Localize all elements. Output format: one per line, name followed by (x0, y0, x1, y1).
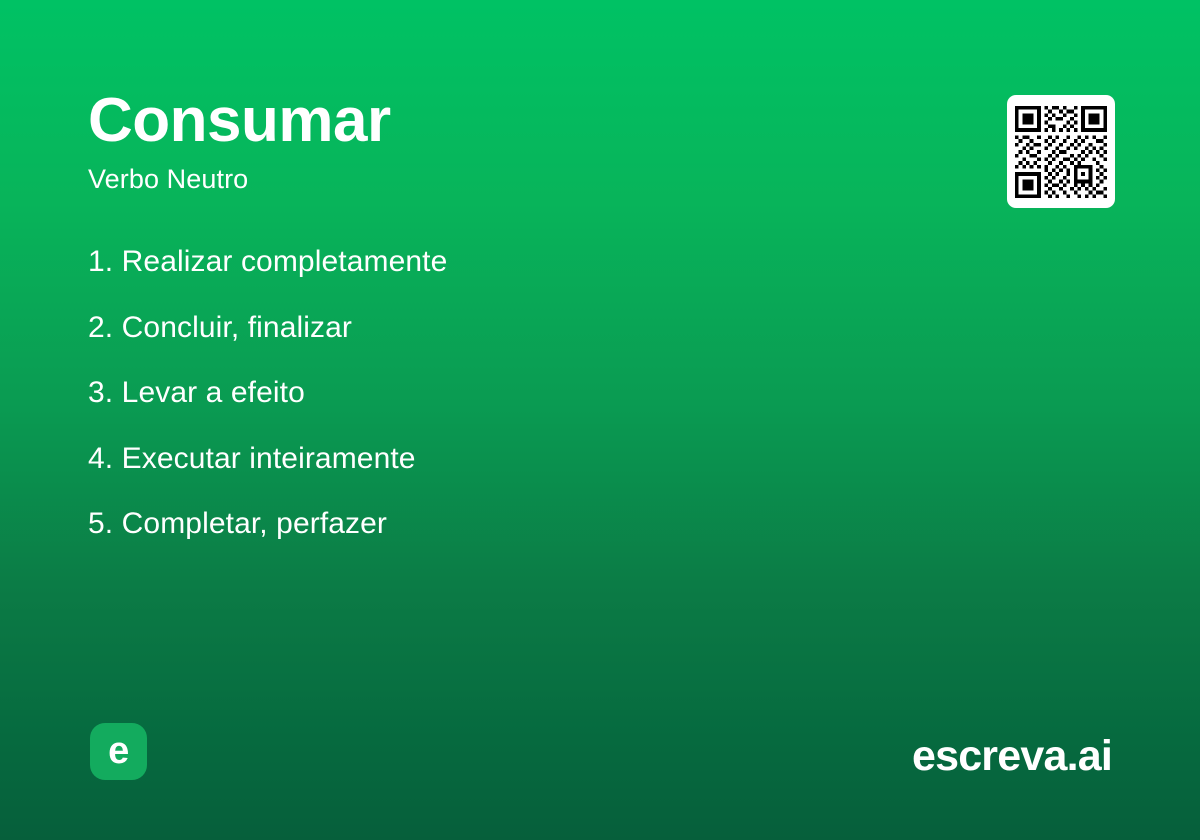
definition-index: 3. (88, 376, 113, 409)
escreva-logo-mark[interactable]: e (90, 723, 147, 780)
header: Consumar Verbo Neutro (88, 88, 948, 195)
definition-item: 1. Realizar completamente (88, 244, 988, 281)
definition-item: 4. Executar inteiramente (88, 441, 988, 478)
word-class-label: Verbo Neutro (88, 163, 948, 195)
definition-text: Completar, perfazer (122, 507, 387, 540)
page-title: Consumar (88, 88, 948, 153)
qr-code-icon (1015, 106, 1107, 198)
definition-text: Levar a efeito (122, 376, 305, 409)
definition-index: 4. (88, 442, 113, 475)
definition-item: 3. Levar a efeito (88, 375, 988, 412)
definition-index: 2. (88, 311, 113, 344)
logo-letter: e (108, 732, 129, 770)
word-definition-card: Consumar Verbo Neutro (0, 0, 1200, 840)
definition-item: 2. Concluir, finalizar (88, 310, 988, 347)
definition-text: Concluir, finalizar (122, 311, 352, 344)
definition-index: 5. (88, 507, 113, 540)
definition-text: Realizar completamente (122, 245, 448, 278)
definitions-list: 1. Realizar completamente2. Concluir, fi… (88, 244, 988, 543)
definition-index: 1. (88, 245, 113, 278)
qr-code-card[interactable] (1007, 95, 1115, 208)
brand-wordmark: escreva.ai (912, 731, 1112, 783)
definition-text: Executar inteiramente (122, 442, 416, 475)
definition-item: 5. Completar, perfazer (88, 506, 988, 543)
